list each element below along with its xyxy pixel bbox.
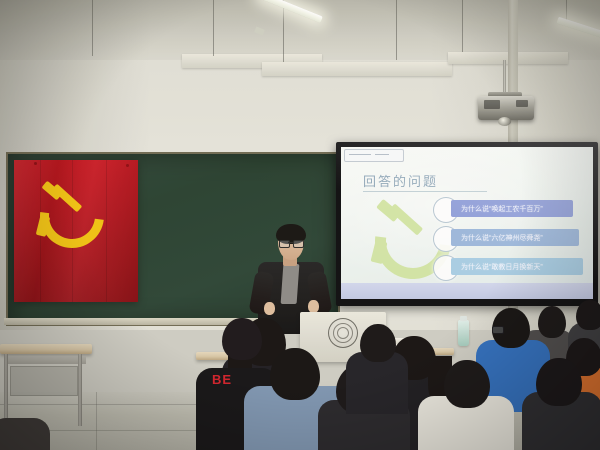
desk-basket bbox=[10, 366, 78, 396]
slide-bullet-1: 为什么说“唤起工农千百万” bbox=[451, 200, 573, 217]
student-back-row-grey-head bbox=[538, 306, 566, 338]
chinese-communist-party-flag bbox=[14, 160, 138, 302]
student-denim-jacket-head bbox=[270, 348, 320, 400]
university-seal bbox=[328, 318, 358, 348]
projector-lens bbox=[498, 117, 511, 126]
student-black-top-be-head bbox=[222, 318, 262, 360]
desk-leg-right bbox=[78, 354, 82, 426]
presentation-toolbar[interactable] bbox=[344, 149, 404, 162]
student-blue-jacket-glasses bbox=[492, 326, 504, 334]
ceiling-rod-2 bbox=[213, 0, 214, 56]
projector-mount-pole bbox=[503, 60, 506, 94]
student-white-sweater-head bbox=[444, 360, 490, 408]
lecturer-glasses-bridge bbox=[288, 242, 293, 243]
water-bottle[interactable] bbox=[458, 320, 469, 346]
classroom-desk[interactable] bbox=[0, 344, 92, 354]
ceiling-rod-3 bbox=[283, 0, 284, 62]
water-bottle-cap bbox=[460, 316, 467, 321]
ceiling-soffit-2 bbox=[262, 62, 452, 76]
student-shirt-text: BE bbox=[212, 372, 232, 387]
student-podium-right-head bbox=[360, 324, 396, 362]
lecturer-hand-left bbox=[264, 302, 275, 315]
student-far-left-shoulder bbox=[0, 418, 50, 450]
student-far-right-head bbox=[576, 300, 600, 330]
lecturer-glasses-right bbox=[293, 240, 304, 248]
lecturer-collar bbox=[281, 264, 300, 304]
projection-screen[interactable]: 回答的问题 为什么说“唤起工农千百万” 为什么说“六亿神州尽舜尧” 为什么说“敢… bbox=[341, 147, 593, 299]
slide-footer-band bbox=[341, 283, 593, 299]
slide-bullet-2: 为什么说“六亿神州尽舜尧” bbox=[451, 229, 579, 246]
hammer-and-sickle-emblem bbox=[36, 180, 92, 238]
desk-shelf bbox=[4, 356, 86, 364]
ceiling-rod-4 bbox=[396, 0, 397, 60]
slide-title: 回答的问题 bbox=[363, 171, 438, 190]
student-dark-right-head bbox=[536, 358, 582, 406]
slide-bullet-3: 为什么说“敢教日月换新天” bbox=[451, 258, 583, 275]
slide-title-rule bbox=[363, 191, 487, 192]
desk-leg-left bbox=[4, 354, 8, 422]
floor-tile-line-3 bbox=[96, 392, 97, 450]
classroom-photo: 回答的问题 为什么说“唤起工农千百万” 为什么说“六亿神州尽舜尧” 为什么说“敢… bbox=[0, 0, 600, 450]
slide-hammer-sickle-icon bbox=[371, 199, 437, 267]
